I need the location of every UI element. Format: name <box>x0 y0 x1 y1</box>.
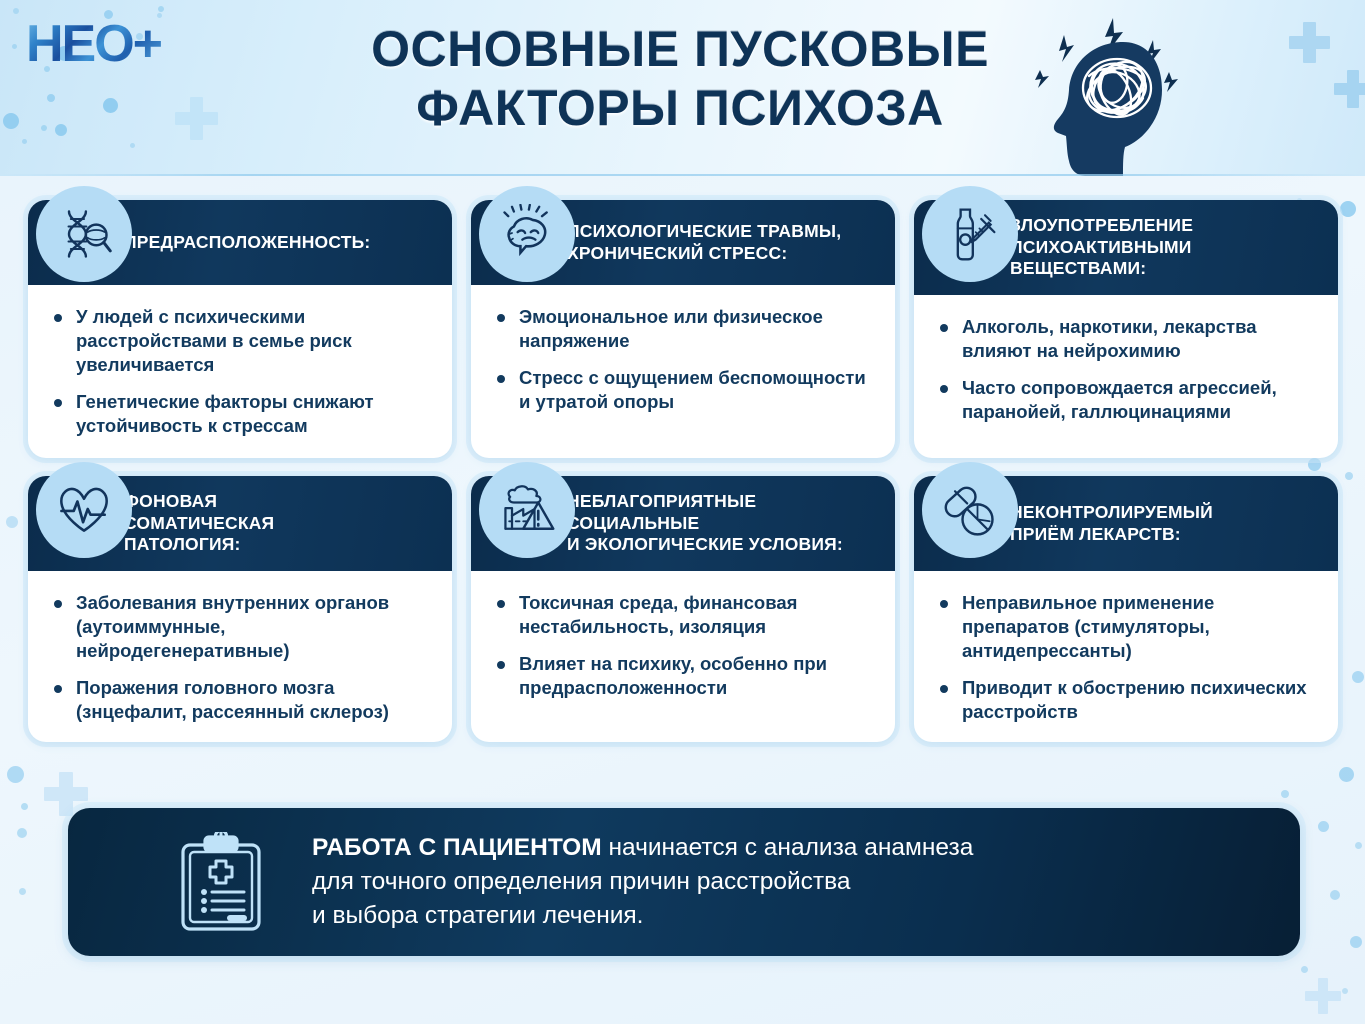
summary-line-1: РАБОТА С ПАЦИЕНТОМ начинается с анализа … <box>312 831 973 865</box>
list-item: Генетические факторы снижают устойчивост… <box>50 390 432 438</box>
factor-card-substance-abuse[interactable]: ЗЛОУПОТРЕБЛЕНИЕ ПСИХОАКТИВНЫМИ ВЕЩЕСТВАМ… <box>914 200 1338 458</box>
heart-pulse-icon <box>36 462 132 558</box>
decor-plus-icon <box>1289 22 1330 63</box>
list-item: Алкоголь, наркотики, лекарства влияют на… <box>936 315 1318 363</box>
decor-plus-icon <box>175 97 218 140</box>
dna-magnifier-icon <box>36 186 132 282</box>
bullet-list: Алкоголь, наркотики, лекарства влияют на… <box>936 315 1318 424</box>
card-title: ЗЛОУПОТРЕБЛЕНИЕ ПСИХОАКТИВНЫМИ ВЕЩЕСТВАМ… <box>1010 215 1193 279</box>
page-title: ОСНОВНЫЕ ПУСКОВЫЕ ФАКТОРЫ ПСИХОЗА <box>330 20 1030 138</box>
factor-card-predisposition[interactable]: ПРЕДРАСПОЛОЖЕННОСТЬ: У людей с психическ… <box>28 200 452 458</box>
list-item: У людей с психическими расстройствами в … <box>50 305 432 377</box>
bullet-list: Токсичная среда, финансовая нестабильнос… <box>493 591 875 700</box>
factor-card-trauma-stress[interactable]: ПСИХОЛОГИЧЕСКИЕ ТРАВМЫ, ХРОНИЧЕСКИЙ СТРЕ… <box>471 200 895 458</box>
bullet-list: Неправильное применение препаратов (стим… <box>936 591 1318 724</box>
card-body: Заболевания внутренних органов (аутоимму… <box>28 571 452 742</box>
list-item: Заболевания внутренних органов (аутоимму… <box>50 591 432 663</box>
list-item: Влияет на психику, особенно при предрасп… <box>493 652 875 700</box>
bullet-list: У людей с психическими расстройствами в … <box>50 305 432 438</box>
factor-card-somatic-pathology[interactable]: ФОНОВАЯ СОМАТИЧЕСКАЯ ПАТОЛОГИЯ: Заболева… <box>28 476 452 742</box>
card-title: ПСИХОЛОГИЧЕСКИЕ ТРАВМЫ, ХРОНИЧЕСКИЙ СТРЕ… <box>567 221 841 264</box>
decor-dot <box>1330 890 1340 900</box>
decor-dot <box>103 98 118 113</box>
decor-dot <box>55 124 67 136</box>
page-title-line-1: ОСНОВНЫЕ ПУСКОВЫЕ <box>330 20 1030 79</box>
content-area: ПРЕДРАСПОЛОЖЕННОСТЬ: У людей с психическ… <box>0 176 1365 1024</box>
head-with-tangled-thoughts-icon <box>1017 4 1217 176</box>
list-item: Часто сопровождается агрессией, паранойе… <box>936 376 1318 424</box>
decor-dot <box>1339 767 1354 782</box>
page-title-line-2: ФАКТОРЫ ПСИХОЗА <box>330 79 1030 138</box>
decor-dot <box>1345 472 1353 480</box>
summary-lead: РАБОТА С ПАЦИЕНТОМ <box>312 834 602 861</box>
decor-dot <box>19 888 26 895</box>
decor-dot <box>1281 790 1289 798</box>
list-item: Стресс с ощущением беспомощности и утрат… <box>493 366 875 414</box>
factor-card-social-ecological[interactable]: НЕБЛАГОПРИЯТНЫЕ СОЦИАЛЬНЫЕ И ЭКОЛОГИЧЕСК… <box>471 476 895 742</box>
brand-logo[interactable]: НЕО+ <box>26 18 161 70</box>
decor-dot <box>41 125 47 131</box>
decor-dot <box>7 766 24 783</box>
decor-plus-icon <box>1305 978 1341 1014</box>
bottle-syringe-icon <box>922 186 1018 282</box>
decor-dot <box>1350 936 1362 948</box>
decor-dot <box>1318 821 1329 832</box>
list-item: Токсичная среда, финансовая нестабильнос… <box>493 591 875 639</box>
decor-dot <box>130 143 135 148</box>
bullet-list: Эмоциональное или физическое напряжение … <box>493 305 875 414</box>
decor-dot <box>1340 201 1356 217</box>
header-band: НЕО+ ОСНОВНЫЕ ПУСКОВЫЕ ФАКТОРЫ ПСИХОЗА <box>0 0 1365 176</box>
decor-dot <box>158 6 164 12</box>
factor-card-uncontrolled-medication[interactable]: НЕКОНТРОЛИРУЕМЫЙ ПРИЁМ ЛЕКАРСТВ: Неправи… <box>914 476 1338 742</box>
card-title: НЕКОНТРОЛИРУЕМЫЙ ПРИЁМ ЛЕКАРСТВ: <box>1010 502 1213 545</box>
list-item: Неправильное применение препаратов (стим… <box>936 591 1318 663</box>
summary-rest: начинается с анализа анамнеза <box>602 834 974 861</box>
decor-dot <box>3 113 19 129</box>
card-body: Токсичная среда, финансовая нестабильнос… <box>471 571 895 718</box>
decor-plus-icon <box>1334 70 1365 108</box>
decor-dot <box>21 803 28 810</box>
list-item: Приводит к обострению психических расстр… <box>936 676 1318 724</box>
summary-banner: РАБОТА С ПАЦИЕНТОМ начинается с анализа … <box>68 808 1300 956</box>
decor-dot <box>1301 966 1308 973</box>
decor-dot <box>1342 988 1348 994</box>
infographic-stage: НЕО+ ОСНОВНЫЕ ПУСКОВЫЕ ФАКТОРЫ ПСИХОЗА <box>0 0 1365 1024</box>
decor-dot <box>12 44 17 49</box>
decor-dot <box>22 139 27 144</box>
card-body: У людей с психическими расстройствами в … <box>28 285 452 456</box>
decor-dot <box>1352 671 1364 683</box>
decor-dot <box>13 8 19 14</box>
card-body: Эмоциональное или физическое напряжение … <box>471 285 895 432</box>
factory-warning-icon <box>479 462 575 558</box>
clipboard-medical-icon <box>178 832 264 932</box>
card-title: ФОНОВАЯ СОМАТИЧЕСКАЯ ПАТОЛОГИЯ: <box>124 491 274 555</box>
card-body: Алкоголь, наркотики, лекарства влияют на… <box>914 295 1338 442</box>
stressed-brain-icon <box>479 186 575 282</box>
factor-card-grid: ПРЕДРАСПОЛОЖЕННОСТЬ: У людей с психическ… <box>28 200 1338 742</box>
card-body: Неправильное применение препаратов (стим… <box>914 571 1338 742</box>
decor-dot <box>17 828 27 838</box>
list-item: Эмоциональное или физическое напряжение <box>493 305 875 353</box>
summary-line-3: и выбора стратегии лечения. <box>312 899 973 933</box>
decor-dot <box>47 94 55 102</box>
decor-dot <box>1355 842 1362 849</box>
card-title: ПРЕДРАСПОЛОЖЕННОСТЬ: <box>124 232 370 253</box>
summary-banner-text: РАБОТА С ПАЦИЕНТОМ начинается с анализа … <box>312 831 973 934</box>
list-item: Поражения головного мозга (знцефалит, ра… <box>50 676 432 724</box>
pills-icon <box>922 462 1018 558</box>
bullet-list: Заболевания внутренних органов (аутоимму… <box>50 591 432 724</box>
summary-line-2: для точного определения причин расстройс… <box>312 865 973 899</box>
card-title: НЕБЛАГОПРИЯТНЫЕ СОЦИАЛЬНЫЕ И ЭКОЛОГИЧЕСК… <box>567 491 843 555</box>
decor-dot <box>6 516 18 528</box>
